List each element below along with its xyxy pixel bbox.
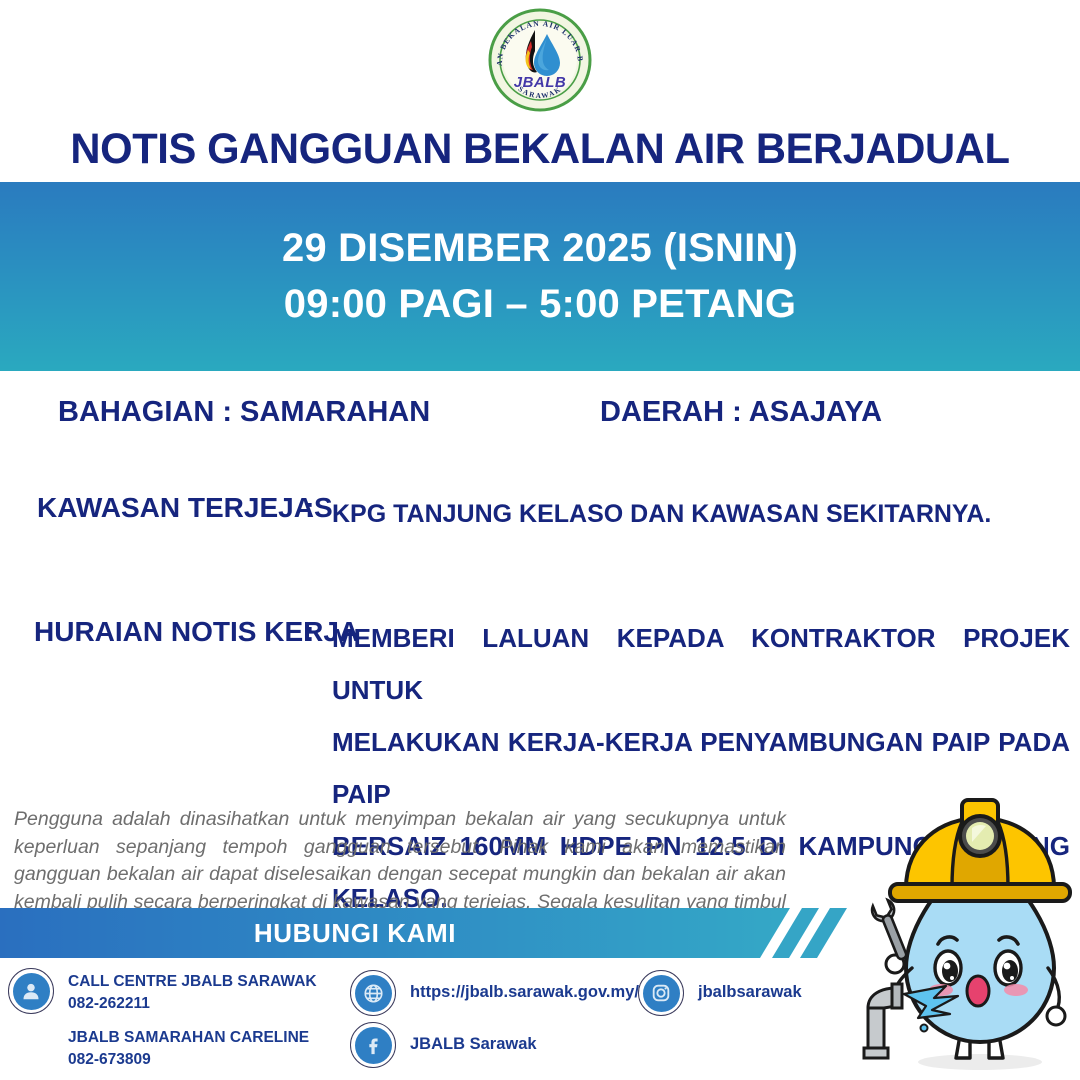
page-title: NOTIS GANGGUAN BEKALAN AIR BERJADUAL <box>16 125 1064 174</box>
notice-poster: JABATAN BEKALAN AIR LUAR BANDAR SARAWAK … <box>0 0 1080 1080</box>
contact-website[interactable]: https://jbalb.sarawak.gov.my/ <box>350 970 639 1016</box>
jbalb-logo: JABATAN BEKALAN AIR LUAR BANDAR SARAWAK … <box>488 8 592 112</box>
person-icon <box>8 968 54 1014</box>
work-description-line-1: MEMBERI LALUAN KEPADA KONTRAKTOR PROJEK … <box>332 612 1070 716</box>
instagram-handle[interactable]: jbalbsarawak <box>698 981 802 1005</box>
instagram-icon <box>638 970 684 1016</box>
careline-number[interactable]: 082-673809 <box>68 1049 317 1071</box>
affected-area-value: KPG TANJUNG KELASO DAN KAWASAN SEKITARNY… <box>332 500 991 529</box>
call-centre-number[interactable]: 082-262211 <box>68 993 317 1015</box>
globe-icon <box>350 970 396 1016</box>
affected-area-colon: : <box>305 492 314 524</box>
contact-instagram[interactable]: jbalbsarawak <box>638 970 802 1016</box>
contact-facebook[interactable]: JBALB Sarawak <box>350 1022 537 1068</box>
bahagian-value: BAHAGIAN : SAMARAHAN <box>58 396 430 429</box>
call-centre-label: CALL CENTRE JBALB SARAWAK <box>68 971 317 993</box>
notice-time: 09:00 PAGI – 5:00 PETANG <box>284 279 796 330</box>
contact-details: CALL CENTRE JBALB SARAWAK 082-262211 JBA… <box>0 968 1080 1080</box>
website-url[interactable]: https://jbalb.sarawak.gov.my/ <box>410 981 639 1005</box>
contact-bar-body: HUBUNGI KAMI <box>0 908 790 958</box>
date-time-banner: 29 DISEMBER 2025 (ISNIN) 09:00 PAGI – 5:… <box>0 182 1080 371</box>
careline-label: JBALB SAMARAHAN CARELINE <box>68 1027 317 1049</box>
svg-text:JBALB: JBALB <box>514 74 567 91</box>
facebook-icon <box>350 1022 396 1068</box>
contact-bar: HUBUNGI KAMI <box>0 908 1080 958</box>
work-description-colon: : <box>305 616 314 648</box>
daerah-value: DAERAH : ASAJAYA <box>600 396 882 429</box>
notice-date: 29 DISEMBER 2025 (ISNIN) <box>282 223 798 274</box>
affected-area-label: KAWASAN TERJEJAS <box>37 492 333 524</box>
contact-phone: CALL CENTRE JBALB SARAWAK 082-262211 JBA… <box>8 968 317 1072</box>
facebook-handle[interactable]: JBALB Sarawak <box>410 1033 537 1057</box>
contact-bar-title: HUBUNGI KAMI <box>254 918 456 949</box>
